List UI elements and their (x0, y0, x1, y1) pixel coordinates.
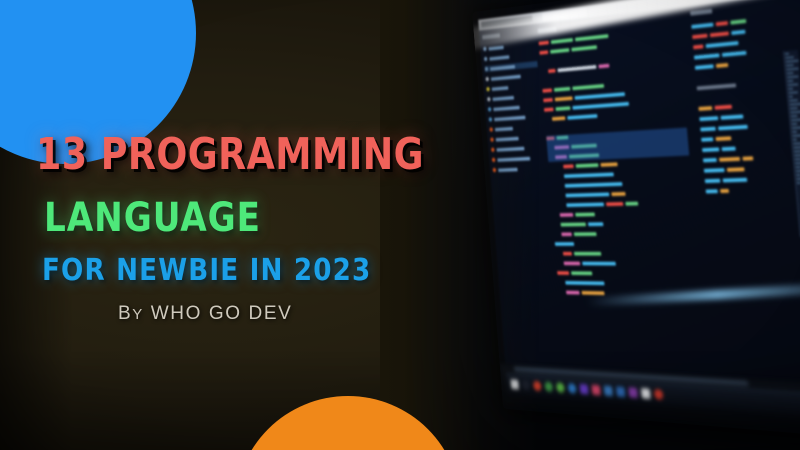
code-token (606, 202, 623, 206)
code-line (558, 279, 708, 288)
code-token (705, 178, 721, 182)
code-token (698, 106, 712, 111)
taskbar-app-icon[interactable] (510, 379, 518, 389)
minimap-line (789, 91, 798, 94)
code-line (552, 209, 701, 218)
monitor-screen-assembly (472, 0, 800, 438)
minimap-line (787, 72, 794, 74)
code-token (550, 48, 569, 53)
code-token (564, 172, 614, 177)
code-token (542, 88, 552, 92)
file-tree-item[interactable] (488, 113, 541, 123)
file-name (490, 65, 515, 71)
secondary-code-panel (690, 0, 800, 198)
taskbar-app-icon[interactable] (654, 389, 664, 400)
file-name (498, 167, 518, 171)
minimap-line (787, 68, 799, 71)
code-token (706, 41, 739, 48)
thumbnail-canvas: 13 PROGRAMMING LANGUAGE FOR NEWBIE IN 20… (0, 0, 800, 450)
code-token (572, 84, 604, 90)
code-token (600, 162, 617, 166)
screen-surface (478, 0, 800, 385)
code-token (701, 137, 713, 141)
byline-rest: WHO GO DEV (144, 303, 293, 324)
minimap-line (785, 53, 789, 55)
code-token (555, 242, 574, 246)
code-line (552, 198, 701, 208)
file-name (496, 146, 524, 151)
code-token (691, 22, 713, 28)
minimap-line (795, 162, 800, 164)
code-token (555, 106, 570, 111)
minimap-line (785, 56, 793, 59)
minimap-line (793, 142, 800, 144)
byline-small-cap: Y (132, 306, 144, 323)
minimap-line (792, 131, 797, 133)
code-token (555, 96, 573, 101)
file-type-icon (489, 117, 493, 121)
secondary-code-line (706, 185, 800, 195)
code-token (720, 188, 729, 192)
monitor-photo (380, 0, 800, 450)
file-type-icon (487, 97, 491, 101)
code-token (625, 201, 638, 205)
code-token (564, 261, 581, 265)
code-token (703, 158, 717, 162)
monitor-bezel (472, 0, 800, 438)
code-token (571, 45, 597, 51)
code-token (697, 83, 737, 90)
minimap-line (790, 107, 798, 109)
taskbar-app-icon[interactable] (544, 381, 553, 391)
minimap-line (790, 103, 800, 106)
minimap-line (795, 158, 800, 160)
code-token (716, 21, 728, 26)
minimap-line (797, 178, 800, 180)
code-token (557, 271, 569, 275)
code-token (699, 116, 718, 121)
headline-line-2: LANGUAGE (44, 198, 261, 238)
code-token (582, 261, 616, 265)
file-name (492, 86, 509, 91)
file-tree-item[interactable] (487, 92, 540, 102)
code-token (704, 168, 725, 173)
code-token (557, 65, 596, 72)
minimap-line (796, 174, 800, 176)
minimap-line (791, 115, 798, 117)
file-type-icon (491, 148, 495, 152)
code-token (565, 281, 604, 285)
minimap-line (789, 96, 793, 98)
minimap-line (792, 127, 800, 130)
code-token (565, 192, 609, 197)
code-token (567, 114, 597, 120)
secondary-panel-title (690, 9, 712, 16)
code-token (720, 114, 743, 119)
taskbar-app-icon[interactable] (556, 382, 565, 392)
headline-line-3: FOR NEWBIE IN 2023 (42, 256, 371, 286)
code-token (575, 34, 608, 41)
headline-line-1: 13 PROGRAMMING (36, 133, 424, 177)
code-token (572, 101, 629, 109)
secondary-code-line (704, 163, 800, 174)
minimap-line (788, 88, 793, 90)
code-line (555, 240, 704, 247)
code-editor-title (538, 27, 557, 33)
file-name (497, 156, 530, 161)
file-type-icon (492, 158, 496, 162)
taskbar-app-icon[interactable] (591, 384, 600, 394)
code-token (714, 104, 732, 109)
taskbar-app-icon[interactable] (616, 386, 625, 397)
code-token (723, 177, 748, 182)
code-line (553, 219, 702, 227)
ide-body (479, 0, 800, 385)
code-token (722, 50, 747, 56)
file-name (492, 96, 514, 101)
code-line (554, 229, 703, 237)
file-explorer-panel (482, 29, 546, 177)
file-tree-item[interactable] (485, 71, 538, 82)
minimap-line (793, 139, 797, 141)
code-line (551, 188, 700, 199)
code-token (742, 156, 753, 160)
code-token (716, 63, 728, 68)
code-token (543, 98, 553, 102)
code-token (694, 53, 720, 59)
file-tree-item[interactable] (492, 165, 546, 173)
os-taskbar[interactable] (506, 373, 800, 419)
file-tree-item[interactable] (485, 61, 538, 72)
code-line (557, 269, 707, 277)
minimap-line (794, 154, 800, 156)
code-token (715, 136, 731, 141)
code-token (544, 107, 554, 111)
file-name (494, 115, 525, 121)
minimap-line (788, 83, 798, 86)
code-token (700, 126, 716, 131)
file-name (495, 126, 513, 131)
code-token (702, 147, 719, 152)
minimap-line (786, 64, 793, 67)
file-tree-item[interactable] (490, 134, 544, 143)
file-tree-item[interactable] (484, 51, 537, 62)
code-token (566, 202, 604, 206)
code-token (539, 40, 549, 45)
code-token (611, 192, 625, 196)
code-token (554, 86, 570, 91)
file-name (488, 45, 503, 50)
minimap-line (788, 80, 794, 82)
taskbar-app-icon[interactable] (522, 380, 531, 390)
code-token (582, 291, 605, 295)
code-line (556, 260, 705, 267)
minimap-line (793, 134, 800, 136)
file-type-icon (489, 127, 493, 131)
code-token (563, 164, 574, 168)
minimap-line (791, 119, 800, 122)
code-token (576, 163, 599, 168)
file-name (491, 74, 521, 80)
file-name (493, 105, 520, 110)
code-token (574, 251, 601, 255)
taskbar-app-icon[interactable] (568, 383, 577, 393)
taskbar-app-icon[interactable] (628, 387, 637, 398)
code-token (539, 50, 548, 54)
file-tree-item[interactable] (492, 154, 546, 163)
code-token (695, 64, 714, 69)
file-tree-item[interactable] (486, 82, 539, 93)
code-token (575, 212, 595, 216)
code-token (551, 38, 573, 44)
code-token (560, 222, 585, 226)
code-token (706, 189, 718, 193)
secondary-code-lines (691, 12, 800, 195)
code-token (574, 232, 597, 236)
byline: BY WHO GO DEV (118, 303, 292, 325)
file-type-icon (488, 107, 492, 111)
file-tree-item[interactable] (483, 40, 536, 52)
code-token (566, 290, 580, 294)
minimap-line (790, 111, 800, 114)
code-token (731, 29, 745, 34)
file-type-icon (493, 168, 497, 172)
code-token (710, 31, 729, 37)
secondary-code-line (705, 174, 800, 184)
secondary-code-line (702, 141, 800, 153)
code-token (722, 146, 736, 150)
file-tree-item[interactable] (489, 123, 542, 132)
file-tree-item[interactable] (491, 144, 545, 153)
file-explorer-title (482, 33, 500, 39)
byline-prefix: B (118, 303, 132, 324)
code-line (555, 250, 704, 257)
file-type-icon (490, 137, 494, 141)
file-tree (483, 40, 546, 173)
code-token (693, 44, 703, 49)
code-token (563, 251, 572, 255)
taskbar-app-icon[interactable] (641, 388, 651, 399)
minimap-line (792, 123, 798, 125)
code-token (552, 116, 565, 120)
code-token (719, 156, 740, 161)
file-type-icon (485, 67, 489, 72)
code-token (560, 213, 574, 217)
code-token (575, 92, 625, 100)
code-token (588, 222, 603, 226)
file-type-icon (485, 77, 489, 82)
file-tree-item[interactable] (488, 102, 541, 112)
file-name (496, 136, 519, 141)
file-name (489, 55, 509, 60)
minimap-line (789, 99, 797, 102)
code-line (550, 178, 698, 189)
taskbar-app-icon[interactable] (579, 384, 588, 394)
secondary-code-line (703, 152, 800, 163)
code-token (730, 19, 746, 25)
file-type-icon (486, 87, 490, 91)
code-token (598, 63, 609, 68)
code-line (559, 289, 709, 298)
file-type-icon (484, 57, 488, 62)
taskbar-app-icon[interactable] (533, 380, 542, 390)
file-type-icon (483, 47, 487, 52)
code-token (565, 182, 623, 188)
secondary-code-line (701, 130, 800, 142)
code-token (692, 33, 707, 38)
taskbar-app-icon[interactable] (604, 385, 613, 396)
minimap-line (794, 146, 800, 149)
code-token (561, 232, 572, 236)
minimap-line (787, 75, 798, 78)
code-token (548, 68, 556, 72)
code-token (727, 167, 745, 171)
code-token (718, 124, 748, 130)
minimap-line (795, 166, 800, 168)
minimap-line (794, 150, 800, 152)
code-token (571, 271, 592, 275)
minimap-line (786, 60, 799, 63)
minimap-line (796, 170, 800, 172)
